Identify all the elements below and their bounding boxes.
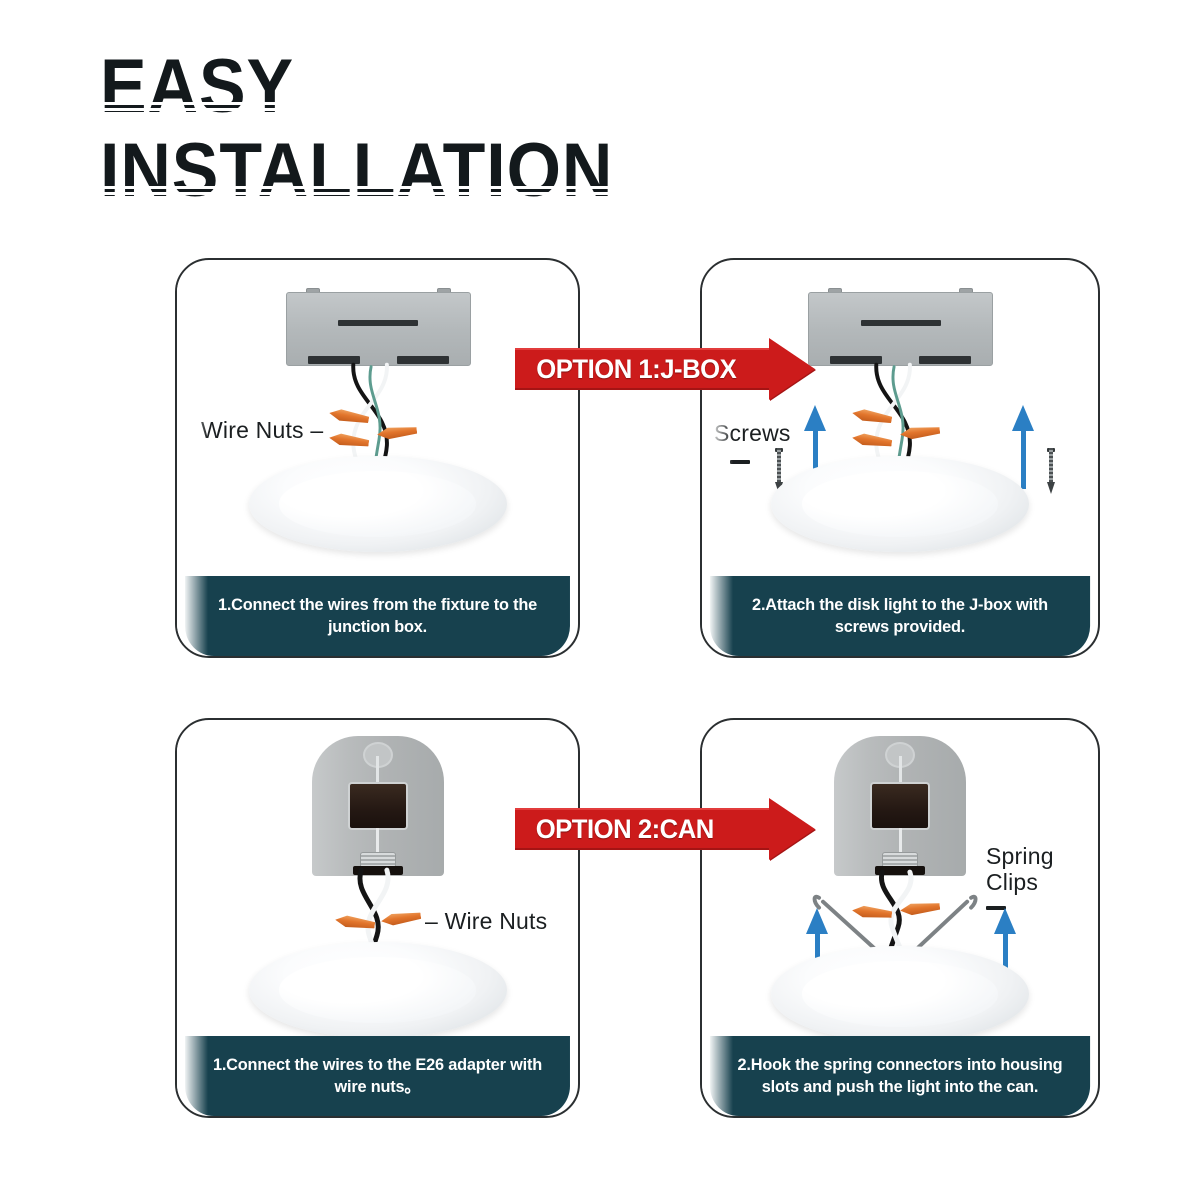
option-1-arrow-head [769, 338, 815, 400]
option-2-label: OPTION 2:CAN [536, 814, 714, 845]
disk-light-icon [249, 456, 507, 552]
screw-right-icon [1046, 448, 1056, 494]
panel-3-illustration: – Wire Nuts [177, 720, 578, 1036]
disk-light-icon [249, 942, 507, 1038]
panel-1-caption: 1.Connect the wires from the fixture to … [185, 576, 570, 656]
wire-nuts-label: Wire Nuts – [201, 417, 323, 444]
option-2-arrow-head [769, 798, 815, 860]
screws-label: Screws [714, 420, 791, 447]
screw-point [1047, 482, 1055, 494]
disk-light-highlight [828, 971, 895, 1000]
panel-2-illustration: Screws [702, 260, 1098, 576]
screw-shank [1049, 448, 1053, 484]
disk-light-lens [279, 471, 475, 536]
option-1-arrow-banner: OPTION 1:J-BOX [515, 338, 815, 400]
panel-1-illustration: Wire Nuts – [177, 260, 578, 576]
panel-4-illustration: Spring Clips [702, 720, 1098, 1036]
disk-light-highlight [305, 481, 372, 510]
page-title: EASY INSTALLATION [100, 52, 800, 206]
step-panel-4: Spring Clips 2.Hook the spring connector… [700, 718, 1100, 1118]
title-line-installation: INSTALLATION [100, 136, 744, 206]
panel-3-caption: 1.Connect the wires to the E26 adapter w… [185, 1036, 570, 1116]
disk-light-highlight [305, 967, 372, 996]
disk-light-lens [802, 961, 998, 1026]
disk-light-lens [802, 471, 998, 536]
panel-4-caption: 2.Hook the spring connectors into housin… [710, 1036, 1090, 1116]
wire-nuts-label: – Wire Nuts [425, 908, 547, 935]
disk-light-icon [771, 946, 1029, 1042]
title-line-easy: EASY [100, 52, 744, 122]
option-1-arrow-shaft: OPTION 1:J-BOX [515, 348, 770, 390]
disk-light-highlight [828, 481, 895, 510]
disk-light-icon [771, 456, 1029, 552]
disk-light-lens [279, 957, 475, 1022]
option-1-label: OPTION 1:J-BOX [536, 354, 736, 385]
option-2-arrow-banner: OPTION 2:CAN [515, 798, 815, 860]
option-2-arrow-shaft: OPTION 2:CAN [515, 808, 770, 850]
spring-clips-label: Spring Clips [986, 844, 1092, 896]
step-panel-1: Wire Nuts – 1.Connect the wires from the… [175, 258, 580, 658]
step-panel-2: Screws [700, 258, 1100, 658]
panel-2-caption: 2.Attach the disk light to the J-box wit… [710, 576, 1090, 656]
screws-leader-dash [730, 460, 750, 464]
installation-infographic: EASY INSTALLATION Wire Nuts – [0, 0, 1200, 1200]
step-panel-3: – Wire Nuts 1.Connect the wires to the E… [175, 718, 580, 1118]
